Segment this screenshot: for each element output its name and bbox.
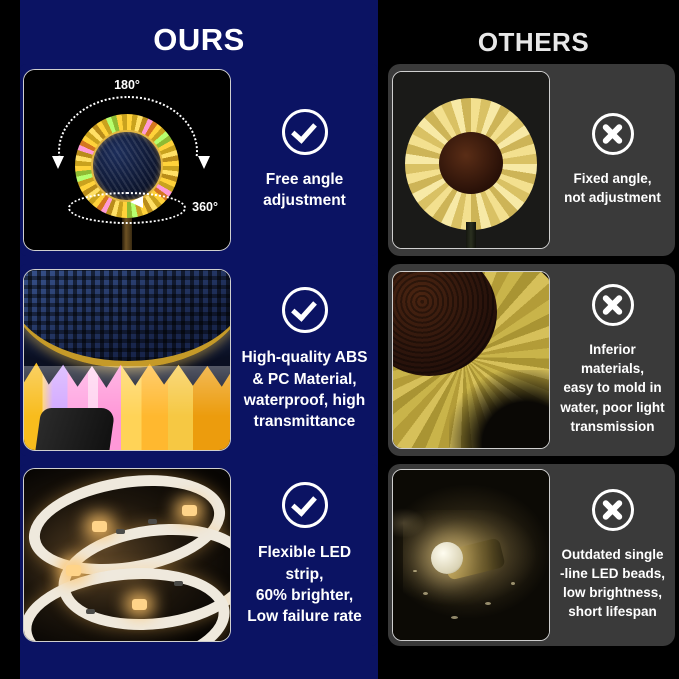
- ours-caption-1: Free angle adjustment: [263, 169, 346, 212]
- led-bead: [132, 599, 147, 610]
- wet-single-led-bulb-photo-icon: [393, 470, 549, 640]
- ours-text-2: High-quality ABS & PC Material, waterpro…: [231, 287, 378, 433]
- others-text-3: Outdated single -line LED beads, low bri…: [550, 489, 675, 622]
- iridescent-petal-closeup-icon: [24, 270, 230, 450]
- check-circle-icon: [282, 482, 328, 528]
- strip-contact: [86, 609, 95, 614]
- others-text-1: Fixed angle, not adjustment: [550, 113, 675, 207]
- water-droplet: [485, 602, 491, 605]
- check-circle-icon: [282, 287, 328, 333]
- bulb-diffuser: [431, 542, 463, 574]
- ours-row-1: 180° 360° Free angle adjustment: [20, 64, 378, 256]
- tilt-angle-label: 180°: [114, 78, 140, 92]
- water-droplet: [423, 592, 428, 595]
- strip-contact: [148, 519, 157, 524]
- sunflower-center: [439, 132, 503, 194]
- ours-text-1: Free angle adjustment: [231, 109, 378, 212]
- x-circle-icon: [592, 113, 634, 155]
- others-image-card-3: [392, 469, 550, 641]
- macro-shadow: [449, 370, 550, 449]
- ours-row-2: High-quality ABS & PC Material, waterpro…: [20, 264, 378, 456]
- others-caption-1: Fixed angle, not adjustment: [564, 169, 661, 207]
- ours-row-3: Flexible LED strip, 60% brighter, Low fa…: [20, 464, 378, 646]
- water-droplet: [451, 616, 458, 619]
- solar-panel-surface: [23, 269, 231, 368]
- coiled-led-strip-photo-icon: [24, 469, 230, 641]
- water-droplet: [413, 570, 417, 572]
- ours-column-header: OURS: [20, 22, 378, 58]
- ours-text-3: Flexible LED strip, 60% brighter, Low fa…: [231, 482, 378, 628]
- tilt-arrow-left-icon: [52, 156, 64, 169]
- ours-image-card-1: 180° 360°: [23, 69, 231, 251]
- others-caption-2: Inferior materials, easy to mold in wate…: [556, 340, 669, 436]
- strip-contact: [116, 529, 125, 534]
- ours-image-card-3: [23, 468, 231, 642]
- led-bead: [182, 505, 197, 516]
- x-circle-icon: [592, 284, 634, 326]
- sunflower-macro-photo-icon: [393, 272, 549, 448]
- sunflower-stem: [466, 222, 476, 249]
- rotation-angle-label: 360°: [192, 200, 218, 214]
- others-text-2: Inferior materials, easy to mold in wate…: [550, 284, 675, 436]
- plain-sunflower-photo-icon: [393, 72, 549, 248]
- x-circle-icon: [592, 489, 634, 531]
- ours-image-card-2: [23, 269, 231, 451]
- tilt-arrow-right-icon: [198, 156, 210, 169]
- rotation-arrow-icon: [130, 196, 143, 208]
- rotation-ellipse: [68, 192, 186, 224]
- others-row-1: Fixed angle, not adjustment: [388, 64, 675, 256]
- strip-contact: [174, 581, 183, 586]
- check-circle-icon: [282, 109, 328, 155]
- others-row-3: Outdated single -line LED beads, low bri…: [388, 464, 675, 646]
- led-bead: [92, 521, 107, 532]
- sunflower-rotation-diagram-icon: 180° 360°: [24, 70, 230, 250]
- led-bead: [66, 565, 81, 576]
- others-caption-3: Outdated single -line LED beads, low bri…: [560, 545, 665, 622]
- others-image-card-2: [392, 271, 550, 449]
- others-image-card-1: [392, 71, 550, 249]
- others-row-2: Inferior materials, easy to mold in wate…: [388, 264, 675, 456]
- ours-caption-2: High-quality ABS & PC Material, waterpro…: [241, 347, 367, 433]
- lamp-base: [35, 408, 116, 451]
- comparison-infographic: OURS OTHERS 180° 360° F: [0, 0, 679, 679]
- water-droplet: [511, 582, 515, 585]
- others-column-header: OTHERS: [388, 27, 679, 58]
- ours-caption-3: Flexible LED strip, 60% brighter, Low fa…: [237, 542, 372, 628]
